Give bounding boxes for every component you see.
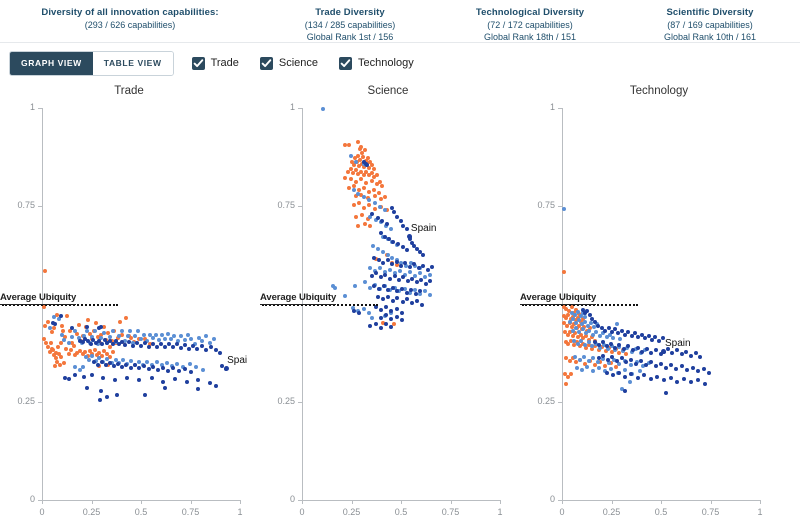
data-point[interactable] [378, 205, 382, 209]
data-point[interactable] [46, 320, 50, 324]
data-point[interactable] [212, 337, 216, 341]
data-point[interactable] [370, 179, 374, 183]
data-point[interactable] [73, 365, 77, 369]
data-point[interactable] [81, 365, 85, 369]
data-point[interactable] [73, 373, 77, 377]
data-point[interactable] [654, 364, 658, 368]
data-point[interactable] [380, 219, 384, 223]
data-point[interactable] [392, 210, 396, 214]
data-point[interactable] [618, 337, 622, 341]
data-point[interactable] [615, 359, 619, 363]
data-point[interactable] [578, 358, 582, 362]
data-point[interactable] [118, 320, 122, 324]
data-point[interactable] [428, 273, 432, 277]
data-point[interactable] [379, 308, 383, 312]
data-point[interactable] [420, 303, 424, 307]
data-point[interactable] [352, 309, 356, 313]
data-point[interactable] [675, 380, 679, 384]
data-point[interactable] [636, 346, 640, 350]
data-point[interactable] [410, 301, 414, 305]
data-point[interactable] [379, 316, 383, 320]
data-point[interactable] [163, 386, 167, 390]
data-point[interactable] [191, 344, 195, 348]
data-point[interactable] [591, 369, 595, 373]
data-point[interactable] [70, 326, 74, 330]
data-point[interactable] [601, 354, 605, 358]
data-point[interactable] [596, 360, 600, 364]
data-point[interactable] [145, 360, 149, 364]
data-point[interactable] [654, 348, 658, 352]
data-point[interactable] [629, 358, 633, 362]
data-point[interactable] [353, 284, 357, 288]
data-point[interactable] [126, 334, 130, 338]
data-point[interactable] [137, 378, 141, 382]
data-point[interactable] [655, 375, 659, 379]
data-point[interactable] [384, 322, 388, 326]
data-point[interactable] [367, 311, 371, 315]
data-point[interactable] [43, 324, 47, 328]
data-point[interactable] [100, 342, 104, 346]
data-point[interactable] [200, 344, 204, 348]
data-point[interactable] [386, 258, 390, 262]
data-point[interactable] [398, 269, 402, 273]
data-point[interactable] [183, 367, 187, 371]
data-point[interactable] [343, 143, 347, 147]
data-point[interactable] [657, 339, 661, 343]
data-point[interactable] [405, 248, 409, 252]
data-point[interactable] [372, 188, 376, 192]
data-point[interactable] [373, 194, 377, 198]
highlighted-country-point[interactable] [224, 366, 229, 371]
data-point[interactable] [362, 206, 366, 210]
data-point[interactable] [378, 266, 382, 270]
data-point[interactable] [367, 190, 371, 194]
data-point[interactable] [414, 292, 418, 296]
data-point[interactable] [645, 347, 649, 351]
data-point[interactable] [370, 274, 374, 278]
data-point[interactable] [333, 286, 337, 290]
data-point[interactable] [396, 242, 400, 246]
data-point[interactable] [562, 207, 566, 211]
data-point[interactable] [391, 299, 395, 303]
data-point[interactable] [368, 224, 372, 228]
data-point[interactable] [124, 316, 128, 320]
data-point[interactable] [352, 203, 356, 207]
data-point[interactable] [587, 329, 591, 333]
data-point[interactable] [703, 382, 707, 386]
data-point[interactable] [204, 348, 208, 352]
data-point[interactable] [696, 378, 700, 382]
data-point[interactable] [362, 307, 366, 311]
data-point[interactable] [183, 343, 187, 347]
data-point[interactable] [597, 366, 601, 370]
data-point[interactable] [694, 351, 698, 355]
data-point[interactable] [99, 389, 103, 393]
data-point[interactable] [389, 317, 393, 321]
data-point[interactable] [82, 375, 86, 379]
data-point[interactable] [376, 247, 380, 251]
data-point[interactable] [65, 314, 69, 318]
data-point[interactable] [67, 377, 71, 381]
data-point[interactable] [161, 366, 165, 370]
data-point[interactable] [381, 261, 385, 265]
data-point[interactable] [624, 360, 628, 364]
data-point[interactable] [626, 344, 630, 348]
data-point[interactable] [649, 377, 653, 381]
data-point[interactable] [373, 201, 377, 205]
data-point[interactable] [620, 329, 624, 333]
data-point[interactable] [161, 380, 165, 384]
data-point[interactable] [564, 382, 568, 386]
data-point[interactable] [386, 295, 390, 299]
data-point[interactable] [644, 363, 648, 367]
data-point[interactable] [56, 345, 60, 349]
data-point[interactable] [401, 245, 405, 249]
data-point[interactable] [642, 373, 646, 377]
filter-checkbox-trade[interactable]: Trade [192, 57, 239, 70]
data-point[interactable] [388, 268, 392, 272]
data-point[interactable] [357, 201, 361, 205]
data-point[interactable] [46, 345, 50, 349]
data-point[interactable] [123, 343, 127, 347]
data-point[interactable] [372, 284, 376, 288]
data-point[interactable] [620, 356, 624, 360]
data-point[interactable] [354, 180, 358, 184]
data-point[interactable] [81, 340, 85, 344]
data-point[interactable] [397, 278, 401, 282]
data-point[interactable] [368, 286, 372, 290]
data-point[interactable] [172, 334, 176, 338]
data-point[interactable] [59, 314, 63, 318]
data-point[interactable] [166, 369, 170, 373]
data-point[interactable] [682, 377, 686, 381]
data-point[interactable] [631, 348, 635, 352]
data-point[interactable] [562, 270, 566, 274]
data-point[interactable] [113, 378, 117, 382]
data-point[interactable] [388, 277, 392, 281]
data-point[interactable] [377, 191, 381, 195]
data-point[interactable] [430, 265, 434, 269]
data-point[interactable] [373, 207, 377, 211]
data-point[interactable] [376, 216, 380, 220]
data-point[interactable] [363, 280, 367, 284]
data-point[interactable] [155, 345, 159, 349]
data-point[interactable] [163, 345, 167, 349]
data-point[interactable] [364, 181, 368, 185]
data-point[interactable] [405, 297, 409, 301]
data-point[interactable] [385, 222, 389, 226]
view-mode-toggle[interactable]: GRAPH VIEW TABLE VIEW [9, 51, 174, 76]
data-point[interactable] [582, 355, 586, 359]
data-point[interactable] [70, 335, 74, 339]
data-point[interactable] [196, 387, 200, 391]
data-point[interactable] [143, 393, 147, 397]
data-point[interactable] [583, 315, 587, 319]
data-point[interactable] [139, 337, 143, 341]
data-point[interactable] [680, 352, 684, 356]
data-point[interactable] [585, 365, 589, 369]
data-point[interactable] [50, 330, 54, 334]
data-point[interactable] [421, 253, 425, 257]
data-point[interactable] [408, 265, 412, 269]
data-point[interactable] [362, 186, 366, 190]
data-point[interactable] [135, 341, 139, 345]
data-point[interactable] [52, 326, 56, 330]
data-point[interactable] [368, 324, 372, 328]
data-point[interactable] [401, 300, 405, 304]
data-point[interactable] [638, 369, 642, 373]
data-point[interactable] [93, 329, 97, 333]
data-point[interactable] [156, 368, 160, 372]
data-point[interactable] [426, 268, 430, 272]
data-point[interactable] [374, 271, 378, 275]
data-point[interactable] [384, 305, 388, 309]
data-point[interactable] [218, 351, 222, 355]
data-point[interactable] [188, 362, 192, 366]
data-point[interactable] [196, 378, 200, 382]
data-point[interactable] [670, 351, 674, 355]
data-point[interactable] [201, 368, 205, 372]
data-point[interactable] [183, 338, 187, 342]
data-point[interactable] [415, 280, 419, 284]
data-point[interactable] [189, 370, 193, 374]
data-point[interactable] [175, 342, 179, 346]
data-point[interactable] [187, 347, 191, 351]
data-point[interactable] [356, 140, 360, 144]
data-point[interactable] [689, 354, 693, 358]
data-point[interactable] [204, 334, 208, 338]
data-point[interactable] [405, 227, 409, 231]
data-point[interactable] [53, 322, 57, 326]
data-point[interactable] [575, 366, 579, 370]
data-point[interactable] [179, 334, 183, 338]
data-point[interactable] [395, 215, 399, 219]
data-point[interactable] [384, 313, 388, 317]
data-point[interactable] [129, 366, 133, 370]
data-point[interactable] [623, 375, 627, 379]
data-point[interactable] [636, 376, 640, 380]
data-point[interactable] [689, 380, 693, 384]
data-point[interactable] [194, 365, 198, 369]
table-view-button[interactable]: TABLE VIEW [93, 52, 173, 75]
data-point[interactable] [209, 345, 213, 349]
data-point[interactable] [137, 366, 141, 370]
data-point[interactable] [395, 296, 399, 300]
data-point[interactable] [376, 295, 380, 299]
data-point[interactable] [343, 294, 347, 298]
data-point[interactable] [185, 380, 189, 384]
data-point[interactable] [62, 361, 66, 365]
data-point[interactable] [147, 345, 151, 349]
data-point[interactable] [370, 212, 374, 216]
data-point[interactable] [639, 359, 643, 363]
data-point[interactable] [389, 325, 393, 329]
data-point[interactable] [609, 367, 613, 371]
data-point[interactable] [321, 107, 325, 111]
data-point[interactable] [389, 227, 393, 231]
data-point[interactable] [634, 362, 638, 366]
data-point[interactable] [349, 154, 353, 158]
data-point[interactable] [85, 325, 89, 329]
data-point[interactable] [143, 341, 147, 345]
data-point[interactable] [117, 334, 121, 338]
data-point[interactable] [98, 398, 102, 402]
data-point[interactable] [367, 203, 371, 207]
data-point[interactable] [380, 184, 384, 188]
data-point[interactable] [349, 177, 353, 181]
data-point[interactable] [698, 355, 702, 359]
data-point[interactable] [151, 336, 155, 340]
data-point[interactable] [101, 376, 105, 380]
highlighted-country-point[interactable] [661, 349, 666, 354]
data-point[interactable] [163, 337, 167, 341]
data-point[interactable] [124, 363, 128, 367]
data-point[interactable] [386, 253, 390, 257]
data-point[interactable] [189, 337, 193, 341]
data-point[interactable] [115, 393, 119, 397]
data-point[interactable] [707, 371, 711, 375]
data-point[interactable] [597, 356, 601, 360]
data-point[interactable] [428, 279, 432, 283]
data-point[interactable] [111, 350, 115, 354]
data-point[interactable] [615, 322, 619, 326]
data-point[interactable] [357, 311, 361, 315]
data-point[interactable] [405, 291, 409, 295]
data-point[interactable] [347, 143, 351, 147]
data-point[interactable] [428, 293, 432, 297]
data-point[interactable] [391, 286, 395, 290]
data-point[interactable] [368, 266, 372, 270]
data-point[interactable] [424, 282, 428, 286]
data-point[interactable] [371, 244, 375, 248]
data-point[interactable] [401, 275, 405, 279]
data-point[interactable] [400, 311, 404, 315]
data-point[interactable] [649, 351, 653, 355]
data-point[interactable] [166, 332, 170, 336]
data-point[interactable] [90, 354, 94, 358]
data-point[interactable] [603, 364, 607, 368]
data-point[interactable] [593, 320, 597, 324]
data-point[interactable] [85, 386, 89, 390]
data-point[interactable] [383, 273, 387, 277]
data-point[interactable] [379, 326, 383, 330]
data-point[interactable] [57, 352, 61, 356]
data-point[interactable] [664, 366, 668, 370]
data-point[interactable] [418, 271, 422, 275]
data-point[interactable] [139, 344, 143, 348]
data-point[interactable] [62, 338, 66, 342]
data-point[interactable] [580, 368, 584, 372]
data-point[interactable] [343, 176, 347, 180]
filter-checkbox-science[interactable]: Science [260, 57, 318, 70]
data-point[interactable] [360, 213, 364, 217]
data-point[interactable] [623, 368, 627, 372]
data-point[interactable] [89, 342, 93, 346]
data-point[interactable] [399, 219, 403, 223]
data-point[interactable] [125, 376, 129, 380]
data-point[interactable] [423, 275, 427, 279]
data-point[interactable] [177, 369, 181, 373]
data-point[interactable] [48, 350, 52, 354]
data-point[interactable] [628, 380, 632, 384]
data-point[interactable] [200, 339, 204, 343]
data-point[interactable] [383, 208, 387, 212]
data-point[interactable] [664, 391, 668, 395]
data-point[interactable] [606, 358, 610, 362]
data-point[interactable] [661, 336, 665, 340]
data-point[interactable] [363, 222, 367, 226]
data-point[interactable] [374, 322, 378, 326]
data-point[interactable] [400, 318, 404, 322]
data-point[interactable] [352, 188, 356, 192]
data-point[interactable] [354, 215, 358, 219]
data-point[interactable] [662, 378, 666, 382]
data-point[interactable] [171, 345, 175, 349]
data-point[interactable] [105, 395, 109, 399]
data-point[interactable] [395, 315, 399, 319]
data-point[interactable] [395, 307, 399, 311]
data-point[interactable] [347, 186, 351, 190]
data-point[interactable] [128, 329, 132, 333]
data-point[interactable] [367, 198, 371, 202]
data-point[interactable] [611, 373, 615, 377]
data-point[interactable] [52, 315, 56, 319]
data-point[interactable] [151, 365, 155, 369]
data-point[interactable] [69, 348, 73, 352]
data-point[interactable] [423, 289, 427, 293]
data-point[interactable] [375, 173, 379, 177]
data-point[interactable] [94, 321, 98, 325]
data-point[interactable] [684, 350, 688, 354]
data-point[interactable] [179, 346, 183, 350]
data-point[interactable] [685, 368, 689, 372]
data-point[interactable] [669, 363, 673, 367]
data-point[interactable] [43, 269, 47, 273]
data-point[interactable] [669, 376, 673, 380]
data-point[interactable] [129, 359, 133, 363]
data-point[interactable] [605, 371, 609, 375]
data-point[interactable] [594, 330, 598, 334]
data-point[interactable] [64, 347, 68, 351]
data-point[interactable] [90, 373, 94, 377]
data-point[interactable] [154, 333, 158, 337]
data-point[interactable] [60, 324, 64, 328]
data-point[interactable] [208, 381, 212, 385]
data-point[interactable] [406, 279, 410, 283]
data-point[interactable] [702, 367, 706, 371]
data-point[interactable] [649, 360, 653, 364]
data-point[interactable] [383, 195, 387, 199]
data-point[interactable] [214, 384, 218, 388]
data-point[interactable] [624, 352, 628, 356]
data-point[interactable] [381, 297, 385, 301]
data-point[interactable] [136, 329, 140, 333]
data-point[interactable] [415, 299, 419, 303]
data-point[interactable] [617, 371, 621, 375]
data-point[interactable] [675, 348, 679, 352]
data-point[interactable] [356, 224, 360, 228]
data-point[interactable] [382, 284, 386, 288]
data-point[interactable] [370, 316, 374, 320]
data-point[interactable] [603, 329, 607, 333]
data-point[interactable] [53, 364, 57, 368]
data-point[interactable] [362, 195, 366, 199]
data-point[interactable] [72, 344, 76, 348]
data-point[interactable] [390, 262, 394, 266]
data-point[interactable] [611, 336, 615, 340]
data-point[interactable] [175, 362, 179, 366]
data-point[interactable] [390, 256, 394, 260]
